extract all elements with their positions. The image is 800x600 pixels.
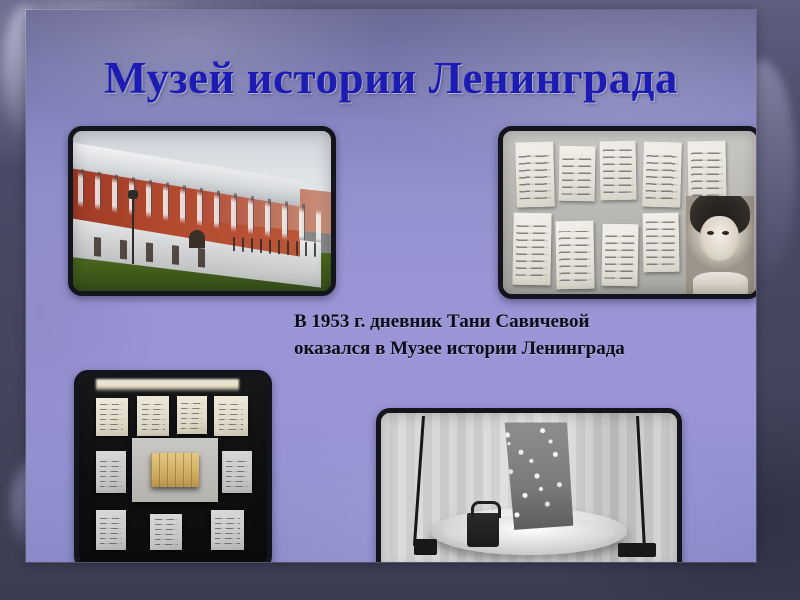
scale-weight <box>467 513 500 548</box>
diary-note <box>642 212 679 271</box>
diary-note <box>642 142 682 208</box>
diary-note <box>688 140 727 203</box>
portrait-face <box>700 216 740 261</box>
diary-note <box>558 145 595 201</box>
case-page <box>96 510 126 550</box>
scale-hook-left <box>414 539 438 555</box>
photo-display-case[interactable] <box>74 370 272 562</box>
portrait-tanya-savicheva <box>686 196 755 294</box>
case-page <box>150 514 182 550</box>
photo-building-image <box>73 131 331 291</box>
presentation-slide: Музей истории Ленинграда <box>0 0 800 600</box>
photo-blockade-bread[interactable] <box>376 408 682 562</box>
case-lamp-glow <box>96 379 239 392</box>
street-lamp-icon <box>132 197 134 264</box>
case-page <box>214 396 248 436</box>
slide-title: Музей истории Ленинграда <box>26 52 756 104</box>
diary-note <box>599 140 636 199</box>
case-page <box>211 510 245 550</box>
photo-display-case-image <box>79 375 267 562</box>
case-page <box>96 398 128 436</box>
photo-diary[interactable] <box>498 126 756 299</box>
case-center-mount <box>132 438 218 503</box>
diary-note <box>513 212 552 284</box>
photo-blockade-bread-image <box>381 413 677 562</box>
slide-body-text: В 1953 г. дневник Тани Савичевой оказалс… <box>294 308 666 362</box>
case-page <box>177 396 207 434</box>
diary-note <box>602 224 639 287</box>
photo-building[interactable] <box>68 126 336 296</box>
photo-diary-image <box>503 131 756 294</box>
diary-note <box>556 220 595 289</box>
diary-note <box>515 142 555 208</box>
open-diary-book <box>151 453 199 487</box>
case-page <box>222 451 252 493</box>
case-page <box>96 451 126 493</box>
building-arch <box>189 230 205 248</box>
portrait-collar <box>693 272 748 294</box>
scale-hook-right <box>618 543 656 557</box>
slide-content-panel: Музей истории Ленинграда <box>26 10 756 562</box>
case-page <box>137 396 169 436</box>
